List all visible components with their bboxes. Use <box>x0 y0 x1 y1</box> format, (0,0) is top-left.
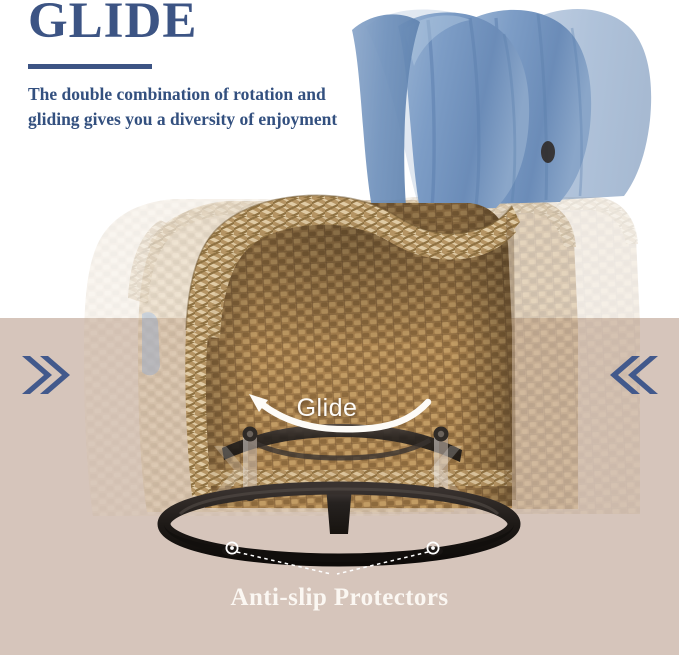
swivel-base <box>164 486 514 562</box>
chair-hardware-fitting <box>541 141 555 163</box>
subtitle-text: The double combination of rotation and g… <box>28 82 428 132</box>
double-chevron-right-icon <box>18 352 74 398</box>
title-underline-rule <box>28 64 152 69</box>
page-title: GLIDE <box>28 0 197 47</box>
glide-label: Glide <box>297 394 358 423</box>
double-chevron-left-icon <box>606 352 662 398</box>
infographic-canvas: GLIDE The double combination of rotation… <box>0 0 679 655</box>
anti-slip-caption: Anti-slip Protectors <box>0 584 679 612</box>
